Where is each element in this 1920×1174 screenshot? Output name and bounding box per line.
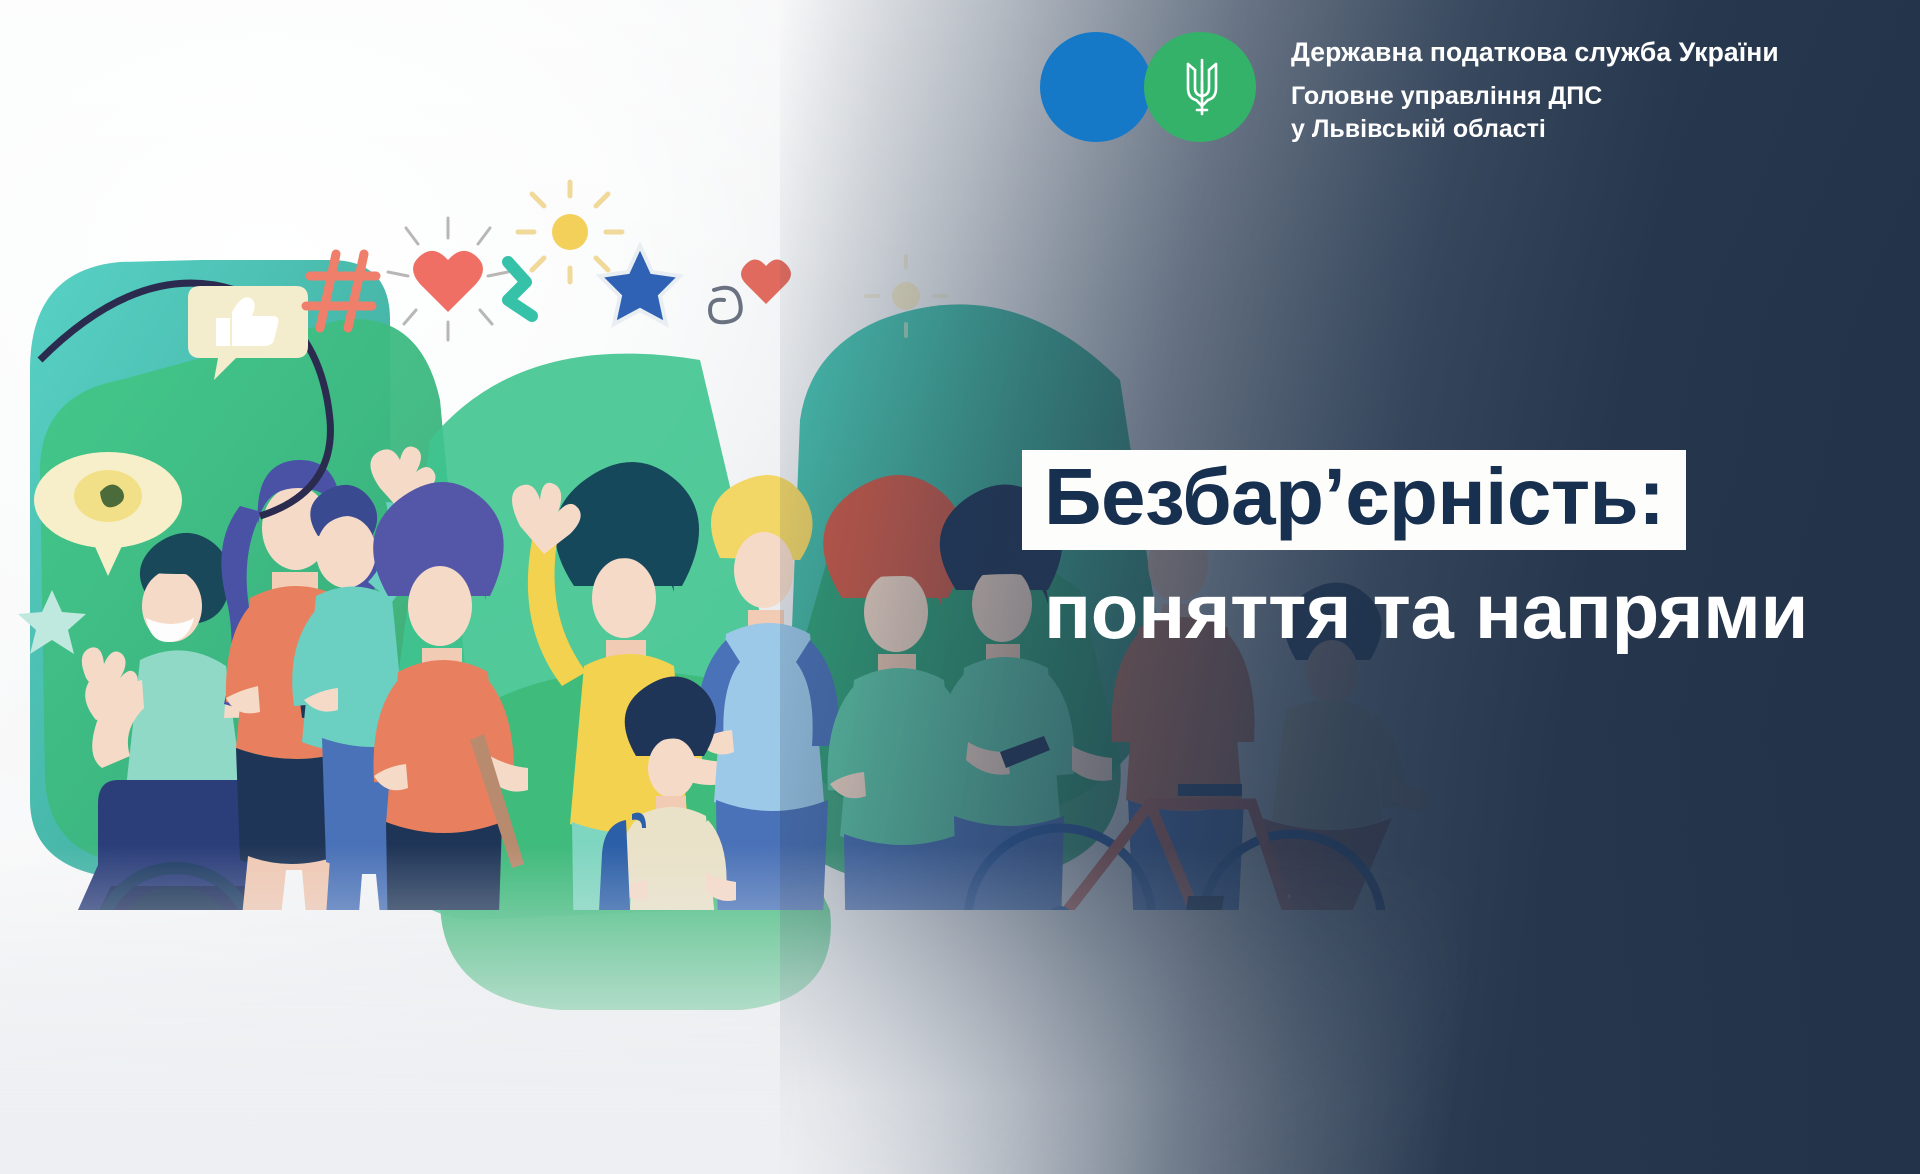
title-line-1: Безбар’єрність: <box>1044 456 1664 538</box>
ukraine-trident-icon <box>1182 54 1222 120</box>
organization-header: Державна податкова служба України Головн… <box>1040 32 1779 146</box>
slide-title-block: Безбар’єрність: поняття та напрями <box>1022 450 1808 652</box>
org-line-1: Державна податкова служба України <box>1291 36 1779 68</box>
dps-logo <box>1040 32 1265 142</box>
title-line-2: поняття та напрями <box>1022 570 1808 653</box>
org-line-3: у Львівській області <box>1291 113 1779 146</box>
organization-name-block: Державна податкова служба України Головн… <box>1291 32 1779 146</box>
slide-canvas: Державна податкова служба України Головн… <box>0 0 1920 1174</box>
org-line-2: Головне управління ДПС <box>1291 80 1779 113</box>
logo-blue-circle <box>1040 32 1152 142</box>
title-banner: Безбар’єрність: <box>1022 450 1686 550</box>
